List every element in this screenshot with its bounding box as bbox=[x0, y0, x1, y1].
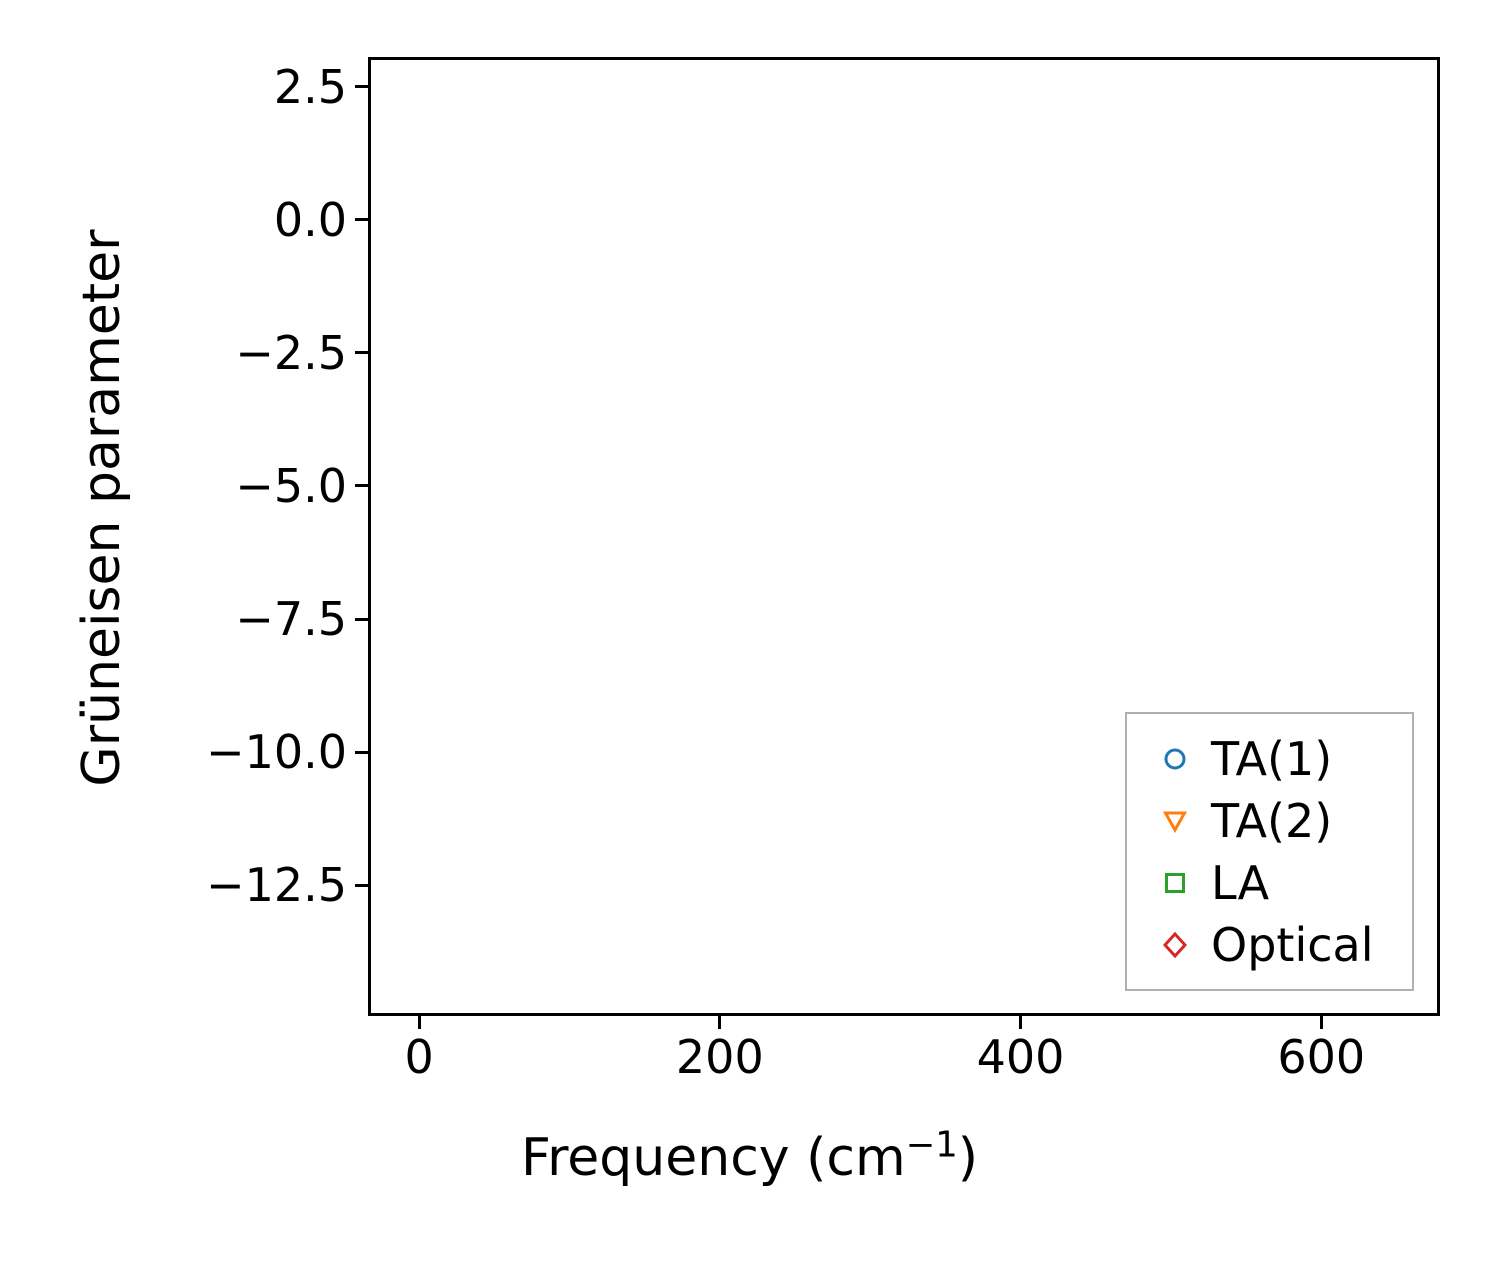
y-tick-label: 2.5 bbox=[274, 64, 347, 110]
x-tick-label: 400 bbox=[921, 1034, 1121, 1080]
x-tick-label: 600 bbox=[1221, 1034, 1421, 1080]
y-tick-mark bbox=[355, 618, 368, 621]
y-tick-label: −7.5 bbox=[235, 596, 347, 642]
legend-item-la[interactable]: LA bbox=[1127, 852, 1412, 914]
x-axis-label-base: Frequency (cm bbox=[521, 1128, 906, 1188]
y-tick-label: −2.5 bbox=[235, 330, 347, 376]
y-tick-mark bbox=[355, 85, 368, 88]
y-tick-label: −5.0 bbox=[235, 463, 347, 509]
y-tick-mark bbox=[355, 218, 368, 221]
legend-label-optical: Optical bbox=[1211, 918, 1373, 972]
y-tick-mark bbox=[355, 351, 368, 354]
y-tick-mark bbox=[355, 751, 368, 754]
figure-root: 2.50.0−2.5−5.0−7.5−10.0−12.50200400600 F… bbox=[0, 0, 1499, 1264]
legend-label-ta2: TA(2) bbox=[1211, 794, 1332, 848]
y-axis-label: Grüneisen parameter bbox=[72, 8, 132, 1008]
y-tick-mark bbox=[355, 484, 368, 487]
circle-marker-icon bbox=[1149, 744, 1201, 774]
x-tick-mark bbox=[718, 1016, 721, 1029]
triangle-down-marker-icon bbox=[1149, 806, 1201, 836]
legend-box[interactable]: TA(1) TA(2) LA Optical bbox=[1125, 712, 1414, 991]
x-tick-mark bbox=[1019, 1016, 1022, 1029]
x-axis-label: Frequency (cm−1) bbox=[0, 1128, 1499, 1188]
square-marker-icon bbox=[1149, 868, 1201, 898]
x-tick-label: 0 bbox=[319, 1034, 519, 1080]
x-axis-label-superscript: −1 bbox=[906, 1125, 958, 1166]
legend-item-optical[interactable]: Optical bbox=[1127, 914, 1412, 976]
x-tick-mark bbox=[418, 1016, 421, 1029]
legend-item-ta2[interactable]: TA(2) bbox=[1127, 790, 1412, 852]
diamond-marker-icon bbox=[1149, 930, 1201, 960]
x-tick-label: 200 bbox=[620, 1034, 820, 1080]
x-axis-label-tail: ) bbox=[958, 1128, 978, 1188]
y-tick-mark bbox=[355, 884, 368, 887]
legend-label-ta1: TA(1) bbox=[1211, 732, 1332, 786]
legend-item-ta1[interactable]: TA(1) bbox=[1127, 728, 1412, 790]
y-tick-label: 0.0 bbox=[274, 197, 347, 243]
legend-label-la: LA bbox=[1211, 856, 1269, 910]
y-tick-label: −12.5 bbox=[206, 862, 347, 908]
x-tick-mark bbox=[1320, 1016, 1323, 1029]
y-tick-label: −10.0 bbox=[206, 729, 347, 775]
